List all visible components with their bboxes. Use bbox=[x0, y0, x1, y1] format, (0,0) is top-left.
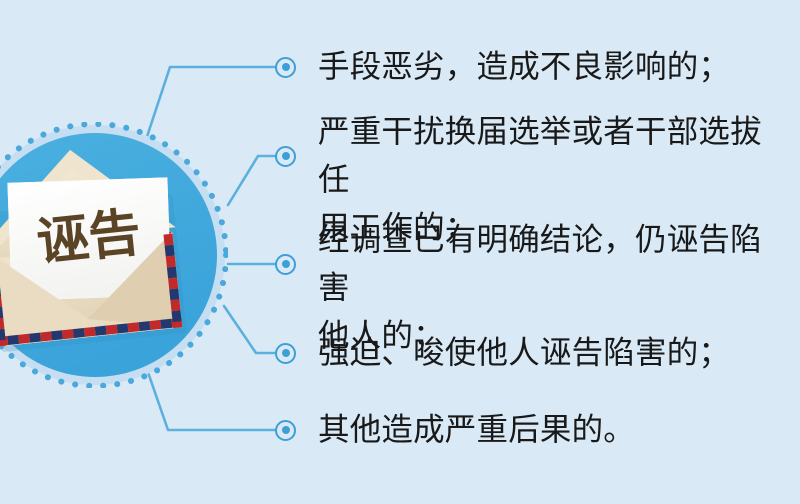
bullet-marker-2-icon bbox=[275, 146, 296, 167]
bullet-marker-5-icon bbox=[275, 420, 296, 441]
infographic-canvas: 诬告 bbox=[0, 0, 800, 504]
bullet-items-list: 手段恶劣，造成不良影响的； 严重干扰换届选举或者干部选拔任 用工作的； 经调查已… bbox=[0, 0, 800, 504]
bullet-marker-4-icon bbox=[275, 343, 296, 364]
list-item-label: 强迫、唆使他人诬告陷害的； bbox=[318, 329, 788, 377]
list-item-label: 手段恶劣，造成不良影响的； bbox=[318, 43, 788, 91]
bullet-marker-1-icon bbox=[275, 57, 296, 78]
list-item-label: 其他造成严重后果的。 bbox=[318, 406, 788, 454]
bullet-marker-3-icon bbox=[275, 254, 296, 275]
